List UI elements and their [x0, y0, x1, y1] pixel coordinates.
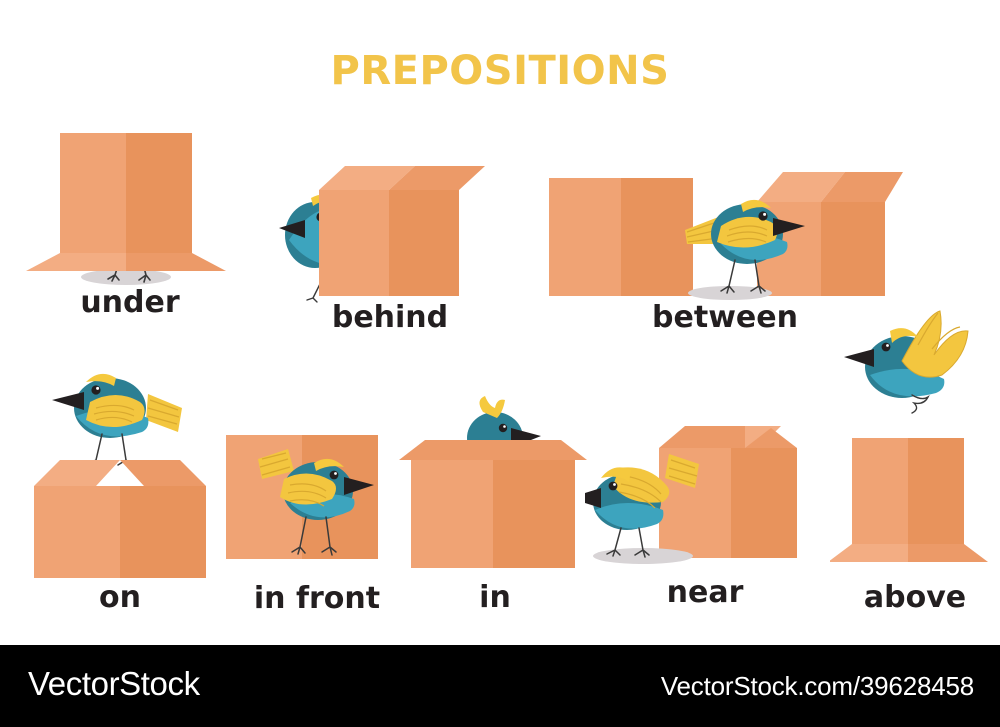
scene-bird-near-box	[585, 420, 825, 585]
scene-bird-between-two-boxes	[545, 160, 905, 310]
item-under: under	[20, 125, 240, 350]
item-in: in	[395, 390, 595, 610]
footer-brand: VectorStock	[28, 665, 200, 703]
open-box	[659, 426, 797, 558]
item-above: above	[830, 430, 1000, 610]
item-behind: behind	[275, 160, 505, 350]
scene-bird-under-closed-box	[20, 125, 240, 310]
label-above: above	[830, 580, 1000, 615]
label-under: under	[20, 285, 240, 320]
item-near: near	[585, 420, 825, 610]
open-box	[34, 460, 206, 578]
closed-box	[26, 133, 226, 271]
scene-bird-above-box	[830, 430, 1000, 585]
closed-box	[830, 438, 988, 562]
open-box	[319, 166, 485, 296]
scene-bird-in-front-of-box	[222, 425, 412, 585]
bird-flying	[844, 311, 968, 413]
bird-on	[52, 374, 182, 467]
label-on: on	[20, 580, 220, 615]
bird-above-flying	[840, 305, 990, 425]
left-box	[549, 178, 693, 296]
item-in-front: in front	[222, 425, 412, 610]
label-behind: behind	[275, 300, 505, 335]
label-in: in	[395, 580, 595, 615]
footer-bar: VectorStock VectorStock.com/39628458	[0, 645, 1000, 727]
ground-shadow	[81, 269, 171, 285]
page-title: PREPOSITIONS	[0, 48, 1000, 94]
scene-bird-behind-open-box	[275, 160, 505, 310]
label-near: near	[585, 575, 825, 610]
label-in-front: in front	[222, 581, 412, 616]
open-box	[399, 440, 587, 568]
scene-bird-flying-above	[840, 305, 990, 425]
scene-bird-on-top-of-box	[20, 360, 220, 585]
scene-bird-inside-box	[395, 390, 595, 585]
footer-url: VectorStock.com/39628458	[661, 671, 974, 702]
item-on: on	[20, 360, 220, 610]
illustration-canvas: PREPOSITIONS	[0, 0, 1000, 727]
